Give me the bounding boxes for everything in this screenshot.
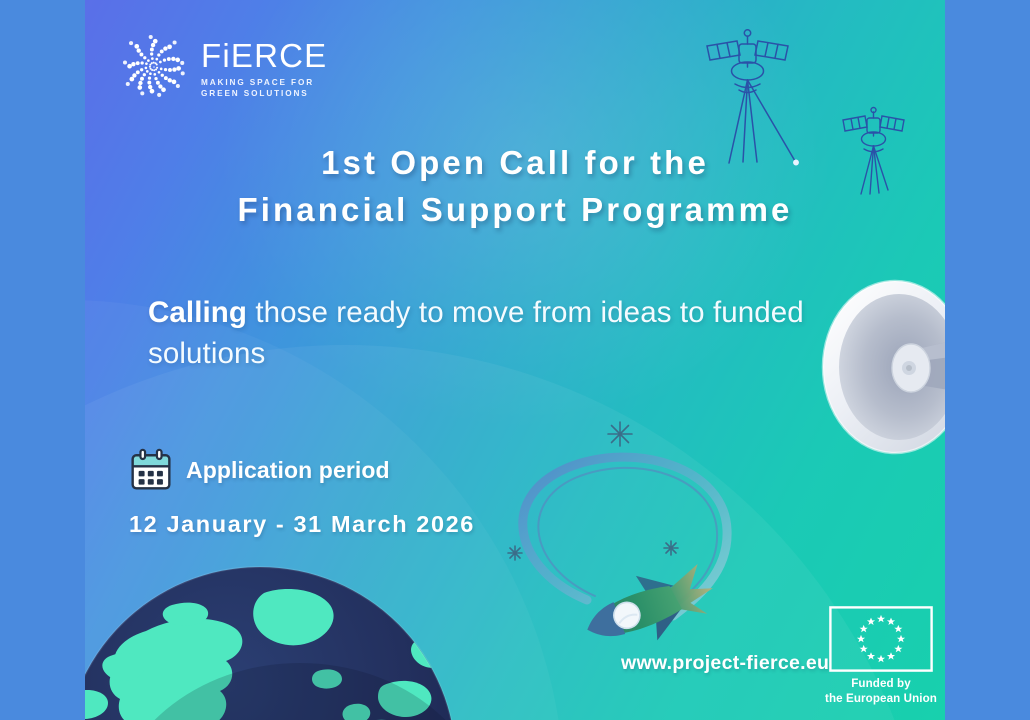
- application-period-block: Application period 12 January - 31 March…: [129, 448, 475, 538]
- subheading-rest: those ready to move from ideas to funded…: [148, 296, 804, 370]
- poster: FiERCE MAKING SPACE FOR GREEN SOLUTIONS …: [0, 0, 1030, 720]
- headline-line-1: 1st Open Call for the: [321, 144, 709, 181]
- fierce-logo[interactable]: FiERCE MAKING SPACE FOR GREEN SOLUTIONS: [115, 28, 327, 106]
- application-period-label: Application period: [186, 457, 390, 484]
- left-side-band: [0, 0, 85, 720]
- subheading: Calling those ready to move from ideas t…: [148, 293, 808, 374]
- page-title: 1st Open Call for the Financial Support …: [85, 140, 945, 234]
- website-url[interactable]: www.project-fierce.eu: [621, 652, 829, 675]
- poster-canvas: FiERCE MAKING SPACE FOR GREEN SOLUTIONS …: [85, 0, 945, 720]
- globe-illustration: [85, 545, 470, 720]
- eu-funding-badge: Funded by the European Union: [822, 606, 940, 707]
- calendar-icon: [129, 448, 173, 492]
- eu-funding-text: Funded by the European Union: [822, 677, 940, 707]
- rocket-illustration: [475, 420, 805, 650]
- application-period-heading: Application period: [129, 448, 475, 492]
- fierce-wordmark: FiERCE: [201, 39, 327, 72]
- fierce-wordmark-block: FiERCE MAKING SPACE FOR GREEN SOLUTIONS: [201, 35, 327, 99]
- right-side-band: [945, 0, 1030, 720]
- eu-flag-icon: [829, 606, 933, 672]
- headline-line-2: Financial Support Programme: [85, 187, 945, 234]
- application-period-dates: 12 January - 31 March 2026: [129, 511, 475, 538]
- spiral-dots-logo-icon: [115, 28, 193, 106]
- fierce-tagline: MAKING SPACE FOR GREEN SOLUTIONS: [201, 77, 327, 99]
- subheading-bold-word: Calling: [148, 296, 247, 329]
- megaphone-illustration: [795, 262, 945, 462]
